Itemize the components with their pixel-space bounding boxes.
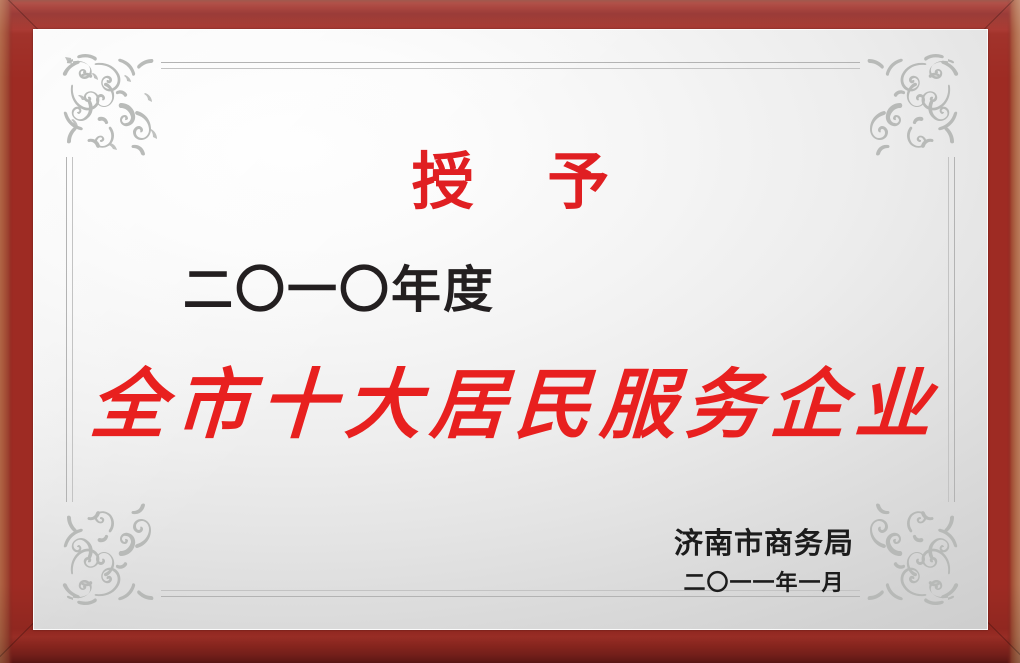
award-year: 二〇一〇年度 [183,265,495,315]
issue-date: 二〇一一年一月 [664,571,864,596]
issuing-organization: 济南市商务局 [664,527,864,560]
award-title: 全市十大居民服务企业 [31,365,990,445]
plaque-content: 授 予 二〇一〇年度 全市十大居民服务企业 济南市商务局 二〇一一年一月 [33,29,988,630]
silver-plate: 授 予 二〇一〇年度 全市十大居民服务企业 济南市商务局 二〇一一年一月 [33,29,988,630]
issuer-block: 济南市商务局 二〇一一年一月 [664,527,864,597]
award-plaque: 授 予 二〇一〇年度 全市十大居民服务企业 济南市商务局 二〇一一年一月 [0,0,1020,663]
award-heading: 授 予 [33,151,988,213]
